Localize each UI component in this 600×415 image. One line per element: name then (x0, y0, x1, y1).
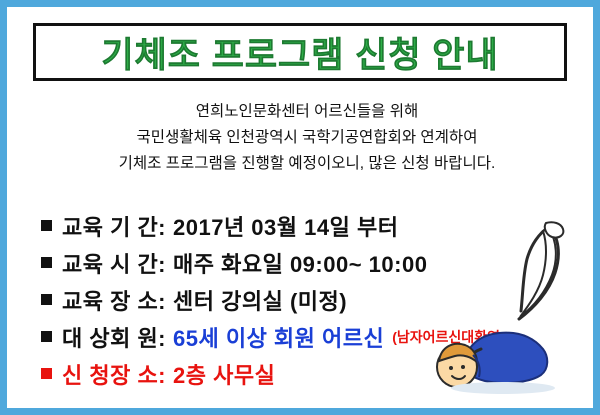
square-bullet-icon (41, 257, 52, 268)
square-bullet-icon (41, 368, 52, 379)
list-item-value: 2017년 03월 14일 부터 (173, 210, 398, 242)
square-bullet-icon (41, 331, 52, 342)
square-bullet-icon (41, 220, 52, 231)
list-item-label: 교육 기 간: (62, 210, 166, 242)
list-item: 신 청장 소: 2층 사무실 (41, 355, 581, 392)
intro-line-2: 국민생활체육 인천광역시 국학기공연합회와 연계하여 (7, 125, 600, 151)
intro-line-1: 연희노인문화센터 어르신들을 위해 (7, 99, 600, 125)
list-item-label: 교육 시 간: (62, 247, 166, 279)
poster-root: 기체조 프로그램 신청 안내 연희노인문화센터 어르신들을 위해 국민생활체육 … (0, 0, 600, 415)
list-item-value: 65세 이상 회원 어르신 (173, 321, 384, 353)
list-item: 교육 시 간: 매주 화요일 09:00~ 10:00 (41, 244, 581, 281)
list-item-note: (남자어르신대환영!!) (392, 327, 514, 347)
list-item-value: 매주 화요일 09:00~ 10:00 (173, 247, 427, 279)
intro-paragraph: 연희노인문화센터 어르신들을 위해 국민생활체육 인천광역시 국학기공연합회와 … (7, 99, 600, 177)
list-item-label: 교육 장 소: (62, 284, 166, 316)
list-item: 교육 장 소: 센터 강의실 (미정) (41, 281, 581, 318)
list-item-value: 2층 사무실 (173, 358, 275, 390)
intro-line-3: 기체조 프로그램을 진행할 예정이오니, 많은 신청 바랍니다. (7, 151, 600, 177)
list-item-value: 센터 강의실 (미정) (173, 284, 347, 316)
list-item: 대 상회 원: 65세 이상 회원 어르신 (남자어르신대환영!!) (41, 318, 581, 355)
page-title: 기체조 프로그램 신청 안내 (36, 26, 564, 78)
poster-inner: 기체조 프로그램 신청 안내 연희노인문화센터 어르신들을 위해 국민생활체육 … (7, 7, 593, 408)
details-list: 교육 기 간: 2017년 03월 14일 부터 교육 시 간: 매주 화요일 … (41, 207, 581, 392)
square-bullet-icon (41, 294, 52, 305)
list-item: 교육 기 간: 2017년 03월 14일 부터 (41, 207, 581, 244)
list-item-label: 신 청장 소: (62, 358, 166, 390)
list-item-label: 대 상회 원: (62, 321, 166, 353)
title-box: 기체조 프로그램 신청 안내 (33, 23, 567, 81)
